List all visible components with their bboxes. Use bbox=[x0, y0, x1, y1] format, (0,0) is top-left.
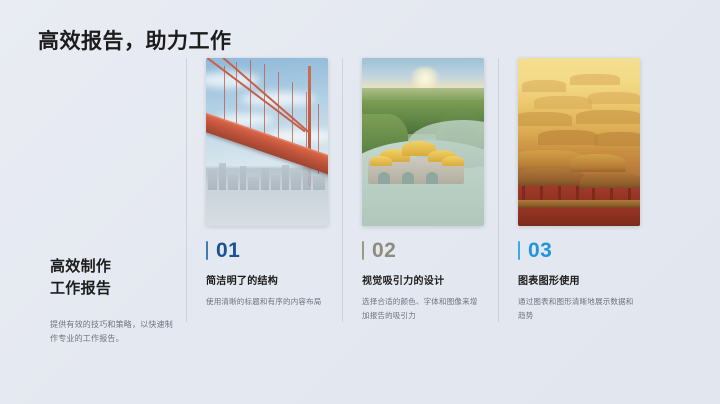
sun-glow bbox=[408, 67, 442, 89]
intro-heading: 高效制作 工作报告 bbox=[50, 256, 175, 300]
intro-description: 提供有效的技巧和策略，以快速制作专业的工作报告。 bbox=[50, 318, 175, 346]
number-row-01: 01 bbox=[206, 240, 330, 261]
column-description: 选择合适的颜色、字体和图像来增加报告的吸引力 bbox=[362, 295, 484, 322]
page-title: 高效报告，助力工作 bbox=[38, 25, 232, 55]
column-number: 02 bbox=[372, 240, 396, 261]
number-accent-bar bbox=[518, 241, 520, 260]
column-03: 03 图表图形使用 通过图表和图形清晰地展示数据和趋势 bbox=[498, 58, 654, 362]
column-divider bbox=[186, 58, 187, 322]
column-description: 通过图表和图形清晰地展示数据和趋势 bbox=[518, 295, 640, 322]
number-accent-bar bbox=[206, 241, 208, 260]
column-number: 01 bbox=[216, 240, 240, 261]
intro-heading-line-1: 高效制作 bbox=[50, 256, 175, 278]
column-description: 使用清晰的标题和有序的内容布局 bbox=[206, 295, 328, 309]
columns-container: 01 简洁明了的结构 使用清晰的标题和有序的内容布局 bbox=[186, 58, 654, 362]
column-heading: 简洁明了的结构 bbox=[206, 272, 330, 287]
intro-heading-line-2: 工作报告 bbox=[50, 278, 175, 300]
intro-block: 高效制作 工作报告 提供有效的技巧和策略，以快速制作专业的工作报告。 bbox=[50, 256, 175, 346]
column-02: 02 视觉吸引力的设计 选择合适的颜色、字体和图像来增加报告的吸引力 bbox=[342, 58, 498, 362]
red-suspension-bridge-photo bbox=[206, 58, 328, 226]
number-accent-bar bbox=[362, 241, 364, 260]
chinese-garden-bridge-photo bbox=[362, 58, 484, 226]
column-number: 03 bbox=[528, 240, 552, 261]
column-heading: 图表图形使用 bbox=[518, 272, 642, 287]
column-01: 01 简洁明了的结构 使用清晰的标题和有序的内容布局 bbox=[186, 58, 342, 362]
forbidden-city-photo bbox=[518, 58, 640, 226]
slide-canvas: 高效报告，助力工作 高效制作 工作报告 提供有效的技巧和策略，以快速制作专业的工… bbox=[0, 0, 720, 404]
column-divider bbox=[498, 58, 499, 322]
column-heading: 视觉吸引力的设计 bbox=[362, 272, 486, 287]
column-divider bbox=[342, 58, 343, 322]
number-row-02: 02 bbox=[362, 240, 486, 261]
number-row-03: 03 bbox=[518, 240, 642, 261]
